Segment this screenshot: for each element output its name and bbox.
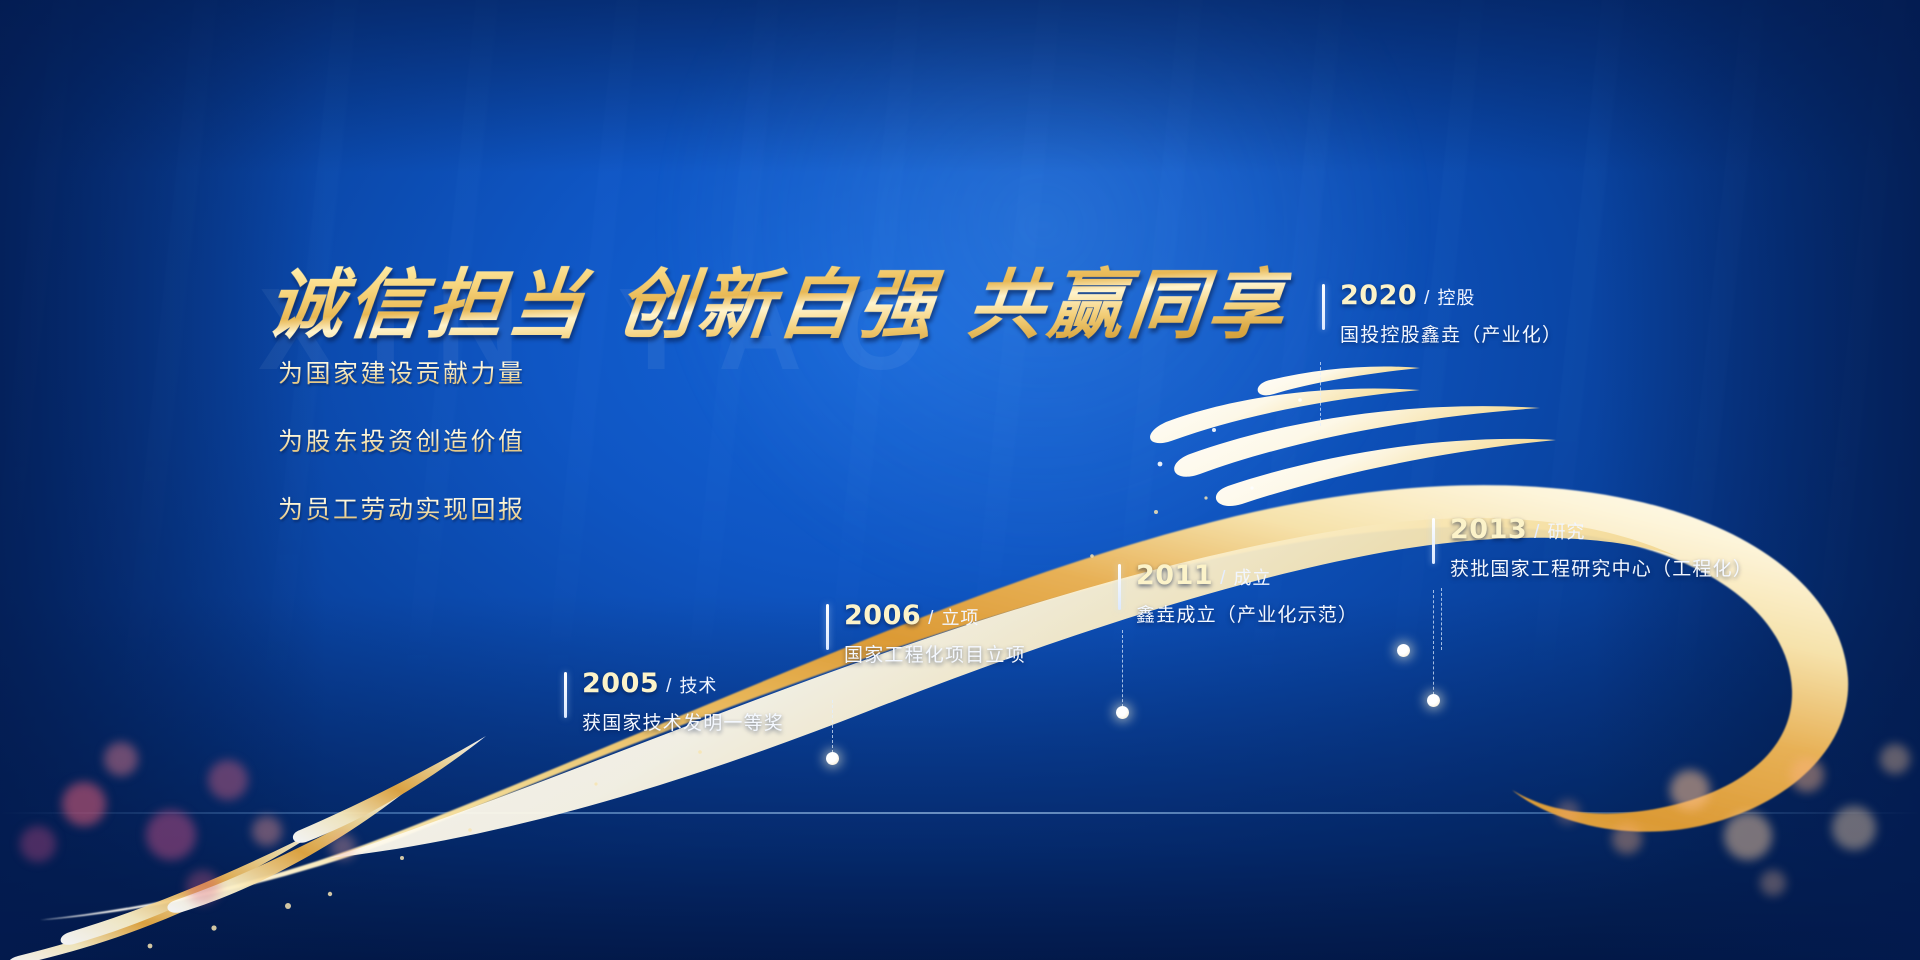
timeline-description: 国家工程化项目立项	[844, 640, 1026, 667]
marker-bar	[1118, 564, 1121, 610]
marker-text: 2006/立项 国家工程化项目立项	[844, 600, 1026, 667]
timeline-category: 研究	[1547, 522, 1585, 542]
slogan-list: 为国家建设贡献力量 为股东投资创造价值 为员工劳动实现回报	[278, 354, 526, 558]
timeline-separator: /	[928, 608, 933, 629]
page-title: 诚信担当 创新自强 共赢同享	[262, 243, 1294, 353]
timeline-dot-2005[interactable]	[826, 752, 839, 765]
marker-bar	[1322, 284, 1325, 330]
timeline-category: 控股	[1437, 288, 1475, 308]
timeline-year: 2013	[1450, 514, 1527, 545]
slogan-item: 为员工劳动实现回报	[278, 490, 526, 526]
timeline-separator: /	[1424, 288, 1429, 309]
timeline-category: 立项	[941, 608, 979, 628]
marker-text: 2013/研究 获批国家工程研究中心（工程化）	[1450, 514, 1753, 581]
timeline-year: 2005	[582, 668, 659, 699]
timeline-description: 获批国家工程研究中心（工程化）	[1450, 554, 1753, 581]
timeline-separator: /	[1220, 568, 1225, 589]
leader-line-2013	[1441, 588, 1442, 650]
banner-canvas: XIN YAO	[0, 0, 1920, 960]
marker-text: 2020/控股 国投控股鑫垚（产业化）	[1340, 280, 1562, 347]
leader-line-2005	[832, 700, 833, 758]
timeline-dot-2011[interactable]	[1427, 694, 1440, 707]
timeline-dot-2006[interactable]	[1116, 706, 1129, 719]
slogan-item: 为国家建设贡献力量	[278, 354, 526, 390]
timeline-category: 技术	[679, 676, 717, 696]
timeline-year: 2020	[1340, 280, 1417, 311]
timeline-description: 获国家技术发明一等奖	[582, 708, 784, 735]
marker-bar	[1432, 518, 1435, 564]
timeline-description: 国投控股鑫垚（产业化）	[1340, 320, 1562, 347]
leader-line-2011	[1433, 590, 1434, 700]
marker-text: 2011/成立 鑫垚成立（产业化示范）	[1136, 560, 1358, 627]
timeline-separator: /	[666, 676, 671, 697]
marker-bar	[826, 604, 829, 650]
timeline-description: 鑫垚成立（产业化示范）	[1136, 600, 1358, 627]
timeline-dot-2013[interactable]	[1397, 644, 1410, 657]
marker-text: 2005/技术 获国家技术发明一等奖	[582, 668, 784, 735]
timeline-category: 成立	[1233, 568, 1271, 588]
leader-line-2006	[1122, 630, 1123, 712]
timeline-year: 2006	[844, 600, 921, 631]
horizon-light-line	[0, 812, 1920, 814]
leader-line-2020	[1320, 362, 1321, 426]
slogan-item: 为股东投资创造价值	[278, 422, 526, 458]
timeline-year: 2011	[1136, 560, 1213, 591]
marker-bar	[564, 672, 567, 718]
timeline-separator: /	[1534, 522, 1539, 543]
